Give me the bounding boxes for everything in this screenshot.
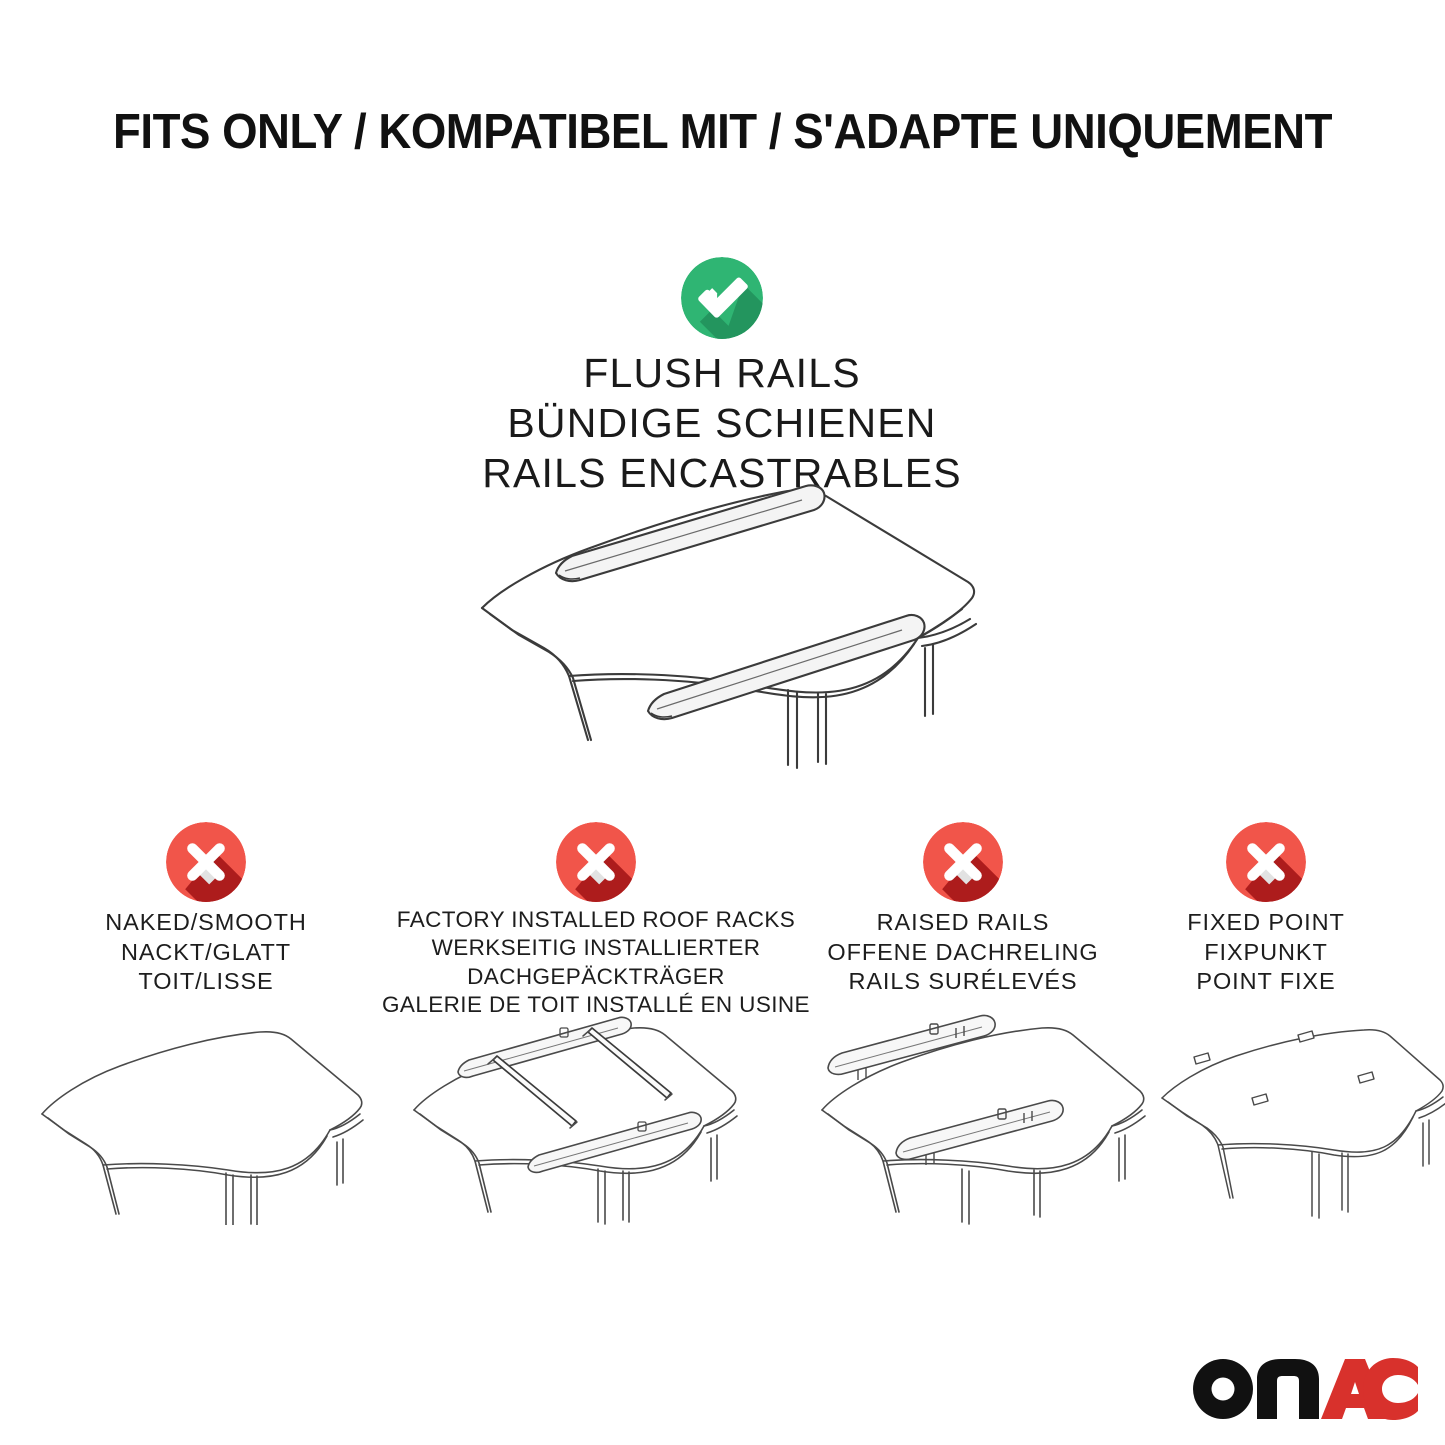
check-circle-icon (681, 257, 763, 339)
car-roof-factory-racks-illustration (400, 1000, 755, 1225)
omac-logo-c (1363, 1358, 1418, 1420)
car-roof-fixed-point-illustration (1152, 1020, 1445, 1225)
car-roof-raised-rails-illustration (812, 1010, 1162, 1225)
label-raised-rails-line-2: OFFENE DACHRELING (803, 938, 1123, 968)
x-circle-icon-naked-smooth (166, 822, 246, 902)
x-circle-icon-raised-rails (923, 822, 1003, 902)
label-fixed-point-line-3: POINT FIXE (1116, 967, 1416, 997)
page-title: FITS ONLY / KOMPATIBEL MIT / S'ADAPTE UN… (51, 104, 1395, 160)
label-fixed-point: FIXED POINT FIXPUNKT POINT FIXE (1116, 908, 1416, 997)
car-roof-naked-illustration (30, 1020, 380, 1225)
label-naked-smooth-line-3: TOIT/LISSE (46, 967, 366, 997)
label-naked-smooth-line-1: NAKED/SMOOTH (46, 908, 366, 938)
flush-rails-label: FLUSH RAILS BÜNDIGE SCHIENEN RAILS ENCAS… (272, 348, 1172, 498)
label-fixed-point-line-2: FIXPUNKT (1116, 938, 1416, 968)
omac-logo-o (1193, 1359, 1253, 1419)
label-fixed-point-line-1: FIXED POINT (1116, 908, 1416, 938)
omac-logo-m (1257, 1359, 1319, 1419)
car-roof-flush-rails-illustration (470, 478, 990, 778)
x-circle-icon-fixed-point (1226, 822, 1306, 902)
label-factory-racks-line-1: FACTORY INSTALLED ROOF RACKS (370, 906, 822, 934)
label-raised-rails-line-1: RAISED RAILS (803, 908, 1123, 938)
label-naked-smooth-line-2: NACKT/GLATT (46, 938, 366, 968)
x-circle-icon-factory-racks (556, 822, 636, 902)
flush-rails-label-line-1: FLUSH RAILS (272, 348, 1172, 398)
label-factory-racks-line-2: WERKSEITIG INSTALLIERTER (370, 934, 822, 962)
label-naked-smooth: NAKED/SMOOTH NACKT/GLATT TOIT/LISSE (46, 908, 366, 997)
omac-logo (1193, 1355, 1418, 1423)
label-raised-rails-line-3: RAILS SURÉLEVÉS (803, 967, 1123, 997)
label-raised-rails: RAISED RAILS OFFENE DACHRELING RAILS SUR… (803, 908, 1123, 997)
flush-rails-label-line-2: BÜNDIGE SCHIENEN (272, 398, 1172, 448)
label-factory-racks-line-3: DACHGEPÄCKTRÄGER (370, 963, 822, 991)
compatibility-infographic: FITS ONLY / KOMPATIBEL MIT / S'ADAPTE UN… (0, 0, 1445, 1445)
